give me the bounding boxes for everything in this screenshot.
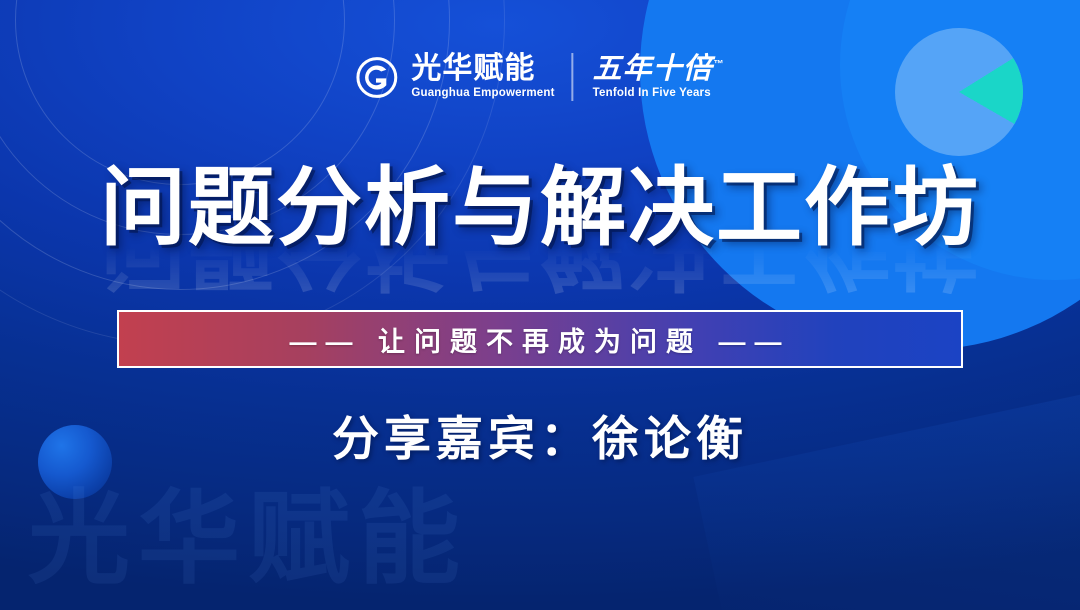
logo-divider	[572, 53, 574, 101]
trademark-symbol: ™	[714, 59, 725, 70]
brand-slogan-cn-wrap: 五年十倍™	[593, 54, 725, 84]
subtitle-banner: —— 让问题不再成为问题 ——	[117, 310, 963, 368]
brand-logo-lockup: 光华赋能 Guanghua Empowerment 五年十倍™ Tenfold …	[355, 53, 724, 101]
brand-slogan-en: Tenfold In Five Years	[593, 86, 711, 100]
circle-g-logo-icon	[355, 56, 398, 99]
speaker-line: 分享嘉宾：徐论衡	[0, 400, 1080, 469]
pie-chart-icon	[895, 28, 1023, 156]
brand-slogan-cn: 五年十倍	[593, 53, 713, 85]
hero-title-block: 问题分析与解决工作坊 问题分析与解决工作坊	[0, 163, 1080, 294]
subtitle-text: —— 让问题不再成为问题 ——	[289, 320, 790, 359]
page-title-reflection: 问题分析与解决工作坊	[0, 240, 1080, 294]
watermark-text: 光华赋能	[28, 488, 468, 590]
brand-name-en: Guanghua Empowerment	[411, 86, 554, 100]
brand-name-cn: 光华赋能	[411, 53, 535, 84]
slide-canvas: 光华赋能 光华赋能 Guanghua Empowerment 五年十倍™ Ten…	[0, 0, 1080, 610]
